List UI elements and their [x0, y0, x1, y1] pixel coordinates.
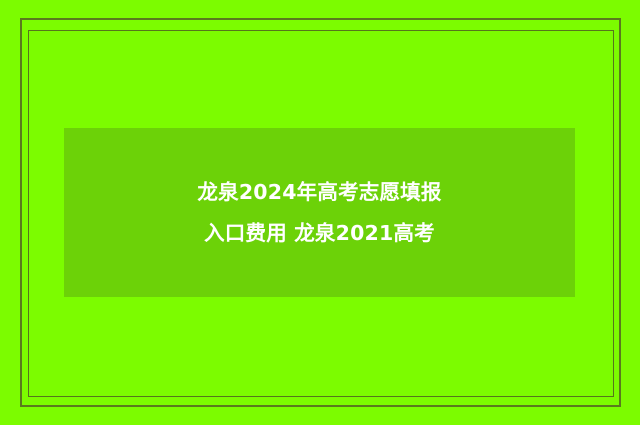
- content-panel: 龙泉2024年高考志愿填报 入口费用 龙泉2021高考: [64, 128, 575, 297]
- headline-line-1: 龙泉2024年高考志愿填报: [64, 172, 575, 213]
- headline-line-2: 入口费用 龙泉2021高考: [64, 213, 575, 254]
- headline-text-block: 龙泉2024年高考志愿填报 入口费用 龙泉2021高考: [64, 172, 575, 254]
- banner-canvas: 龙泉2024年高考志愿填报 入口费用 龙泉2021高考: [0, 0, 640, 425]
